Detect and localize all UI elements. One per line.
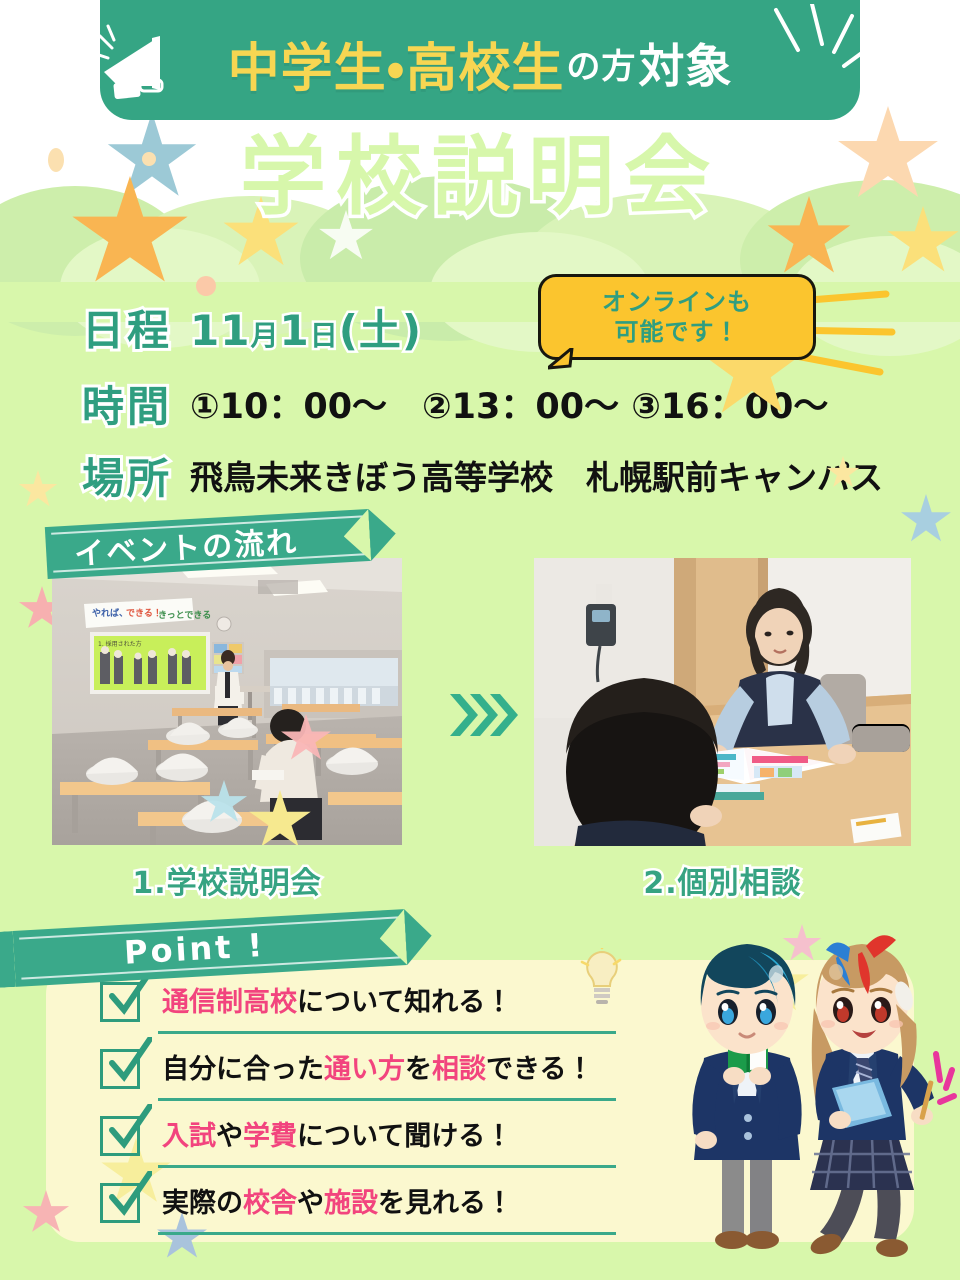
sparkle-lines-icon <box>936 1054 954 1102</box>
point-check-list: 通信制高校について知れる！ 自分に合った通い方を相談できる！ 入試や学費について… <box>100 978 620 1246</box>
svg-text:できる！: できる！ <box>126 608 162 619</box>
check-item-highlight: 相談 <box>432 1054 486 1085</box>
online-callout-bubble: オンラインも 可能です！ <box>538 274 816 360</box>
check-item-highlight: 入試 <box>162 1121 216 1152</box>
check-item-highlight: 施設 <box>324 1188 378 1219</box>
individual-consultation-photo <box>534 558 911 846</box>
list-item: 通信制高校について知れる！ <box>100 978 620 1041</box>
classroom-presentation-photo: やれば、 できる！ きっとできる 1. 採用された方 <box>52 558 402 845</box>
chevron-right-triple-icon <box>448 690 518 740</box>
poster-root: 中学生・高校生 の方 対象 学校説明会 学校説明会 日程 11月1日(土) 時間… <box>0 0 960 1280</box>
info-value-place: 飛鳥未来きぼう高等学校 札幌駅前キャンパス <box>190 451 883 499</box>
check-item-part: できる！ <box>486 1054 593 1085</box>
check-item-text: 入試や学費について聞ける！ <box>162 1114 512 1153</box>
callout-bubble-tail <box>548 348 574 370</box>
date-month-unit: 月 <box>250 319 279 352</box>
check-item-underline <box>158 1031 616 1034</box>
check-item-underline <box>158 1165 616 1168</box>
check-mark-icon <box>104 1104 152 1154</box>
info-label-date: 日程 <box>0 297 190 358</box>
check-item-text: 自分に合った通い方を相談できる！ <box>162 1047 593 1086</box>
date-day-number: 1 <box>279 306 309 355</box>
header-target-secondary: の方 <box>566 39 636 88</box>
check-item-underline <box>158 1232 616 1235</box>
header-target-primary: 中学生・高校生 <box>228 26 565 101</box>
check-item-highlight: 通信制高校 <box>162 987 297 1018</box>
decorative-dot <box>196 276 216 296</box>
check-mark-icon <box>104 1037 152 1087</box>
info-row-time: 時間 ①10：00～ ②13：00～ ③16：00～ <box>0 372 960 434</box>
callout-line-1: オンラインも <box>602 287 752 317</box>
date-month-number: 11 <box>190 306 250 355</box>
check-item-part: や <box>216 1121 243 1152</box>
check-item-highlight: 校舎 <box>243 1188 297 1219</box>
list-item: 入試や学費について聞ける！ <box>100 1112 620 1175</box>
check-item-text: 実際の校舎や施設を見れる！ <box>162 1181 513 1220</box>
check-item-rest: について知れる！ <box>297 987 512 1018</box>
student-girl-illustration <box>808 935 934 1258</box>
check-mark-icon <box>104 1171 152 1221</box>
info-row-place: 場所 飛鳥未来きぼう高等学校 札幌駅前キャンパス <box>0 444 960 506</box>
sparkle-lines-icon <box>760 4 880 114</box>
check-item-highlight: 学費 <box>243 1121 297 1152</box>
check-item-text: 通信制高校について知れる！ <box>162 980 512 1019</box>
list-item: 自分に合った通い方を相談できる！ <box>100 1045 620 1108</box>
check-item-part: 自分に合った <box>162 1054 324 1085</box>
info-label-place: 場所 <box>0 445 190 506</box>
callout-line-2: 可能です！ <box>615 317 740 347</box>
svg-text:やれば、: やれば、 <box>92 607 128 619</box>
photo-caption-2: 2.個別相談 <box>534 858 911 902</box>
check-item-part: や <box>297 1188 324 1219</box>
check-item-part: を見れる！ <box>378 1188 513 1219</box>
date-weekday: (土) <box>339 306 422 355</box>
info-label-time: 時間 <box>0 373 190 434</box>
check-item-part: 実際の <box>162 1188 243 1219</box>
photo-caption-1: 1.学校説明会 <box>52 858 402 902</box>
svg-text:きっとできる: きっとできる <box>158 610 211 621</box>
check-item-highlight: 通い方 <box>324 1054 405 1085</box>
students-illustration <box>600 930 960 1280</box>
check-item-underline <box>158 1098 616 1101</box>
check-item-part: について聞ける！ <box>297 1121 512 1152</box>
date-day-unit: 日 <box>310 319 339 352</box>
student-boy-illustration <box>692 944 801 1249</box>
list-item: 実際の校舎や施設を見れる！ <box>100 1179 620 1242</box>
page-title: 学校説明会 <box>0 122 960 232</box>
info-value-date: 11月1日(土) <box>190 297 422 358</box>
header-target-text: 中学生・高校生 の方 対象 <box>100 18 860 108</box>
check-item-part: を <box>405 1054 432 1085</box>
header-target-tertiary: 対象 <box>638 30 732 96</box>
